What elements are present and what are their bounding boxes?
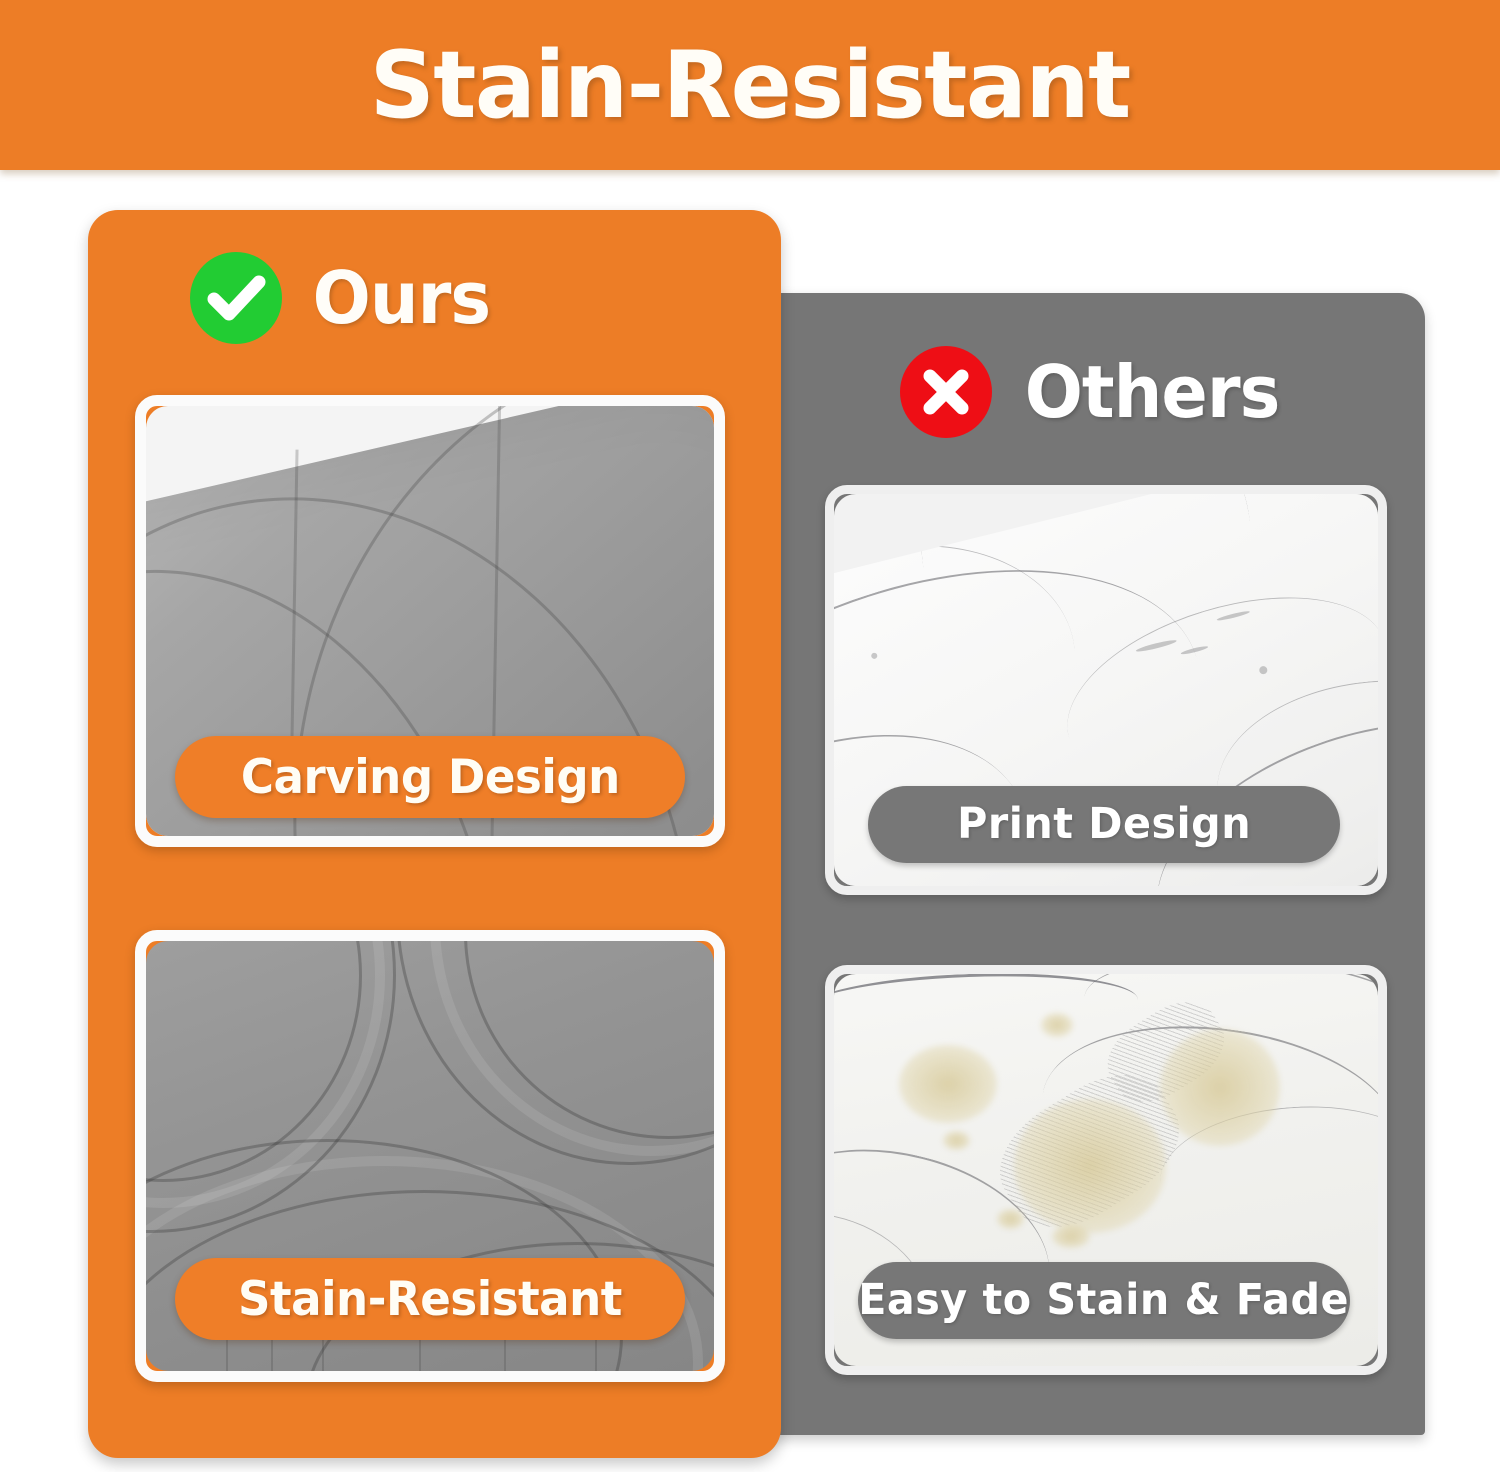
page-title: Stain-Resistant (370, 39, 1130, 132)
ours-badge-label: Ours (313, 262, 490, 334)
others-caption-pill-2: Easy to Stain & Fade (858, 1262, 1350, 1339)
others-caption-pill-1: Print Design (868, 786, 1340, 863)
ours-badge: Ours (190, 252, 495, 344)
others-badge-label: Others (1025, 356, 1280, 428)
x-circle-icon (900, 346, 992, 438)
comparison-infographic: Stain-Resistant Ours Others (0, 0, 1500, 1472)
others-badge: Others (900, 346, 1286, 438)
ours-caption-label-1: Carving Design (241, 754, 620, 801)
header-banner: Stain-Resistant (0, 0, 1500, 170)
others-caption-label-1: Print Design (957, 803, 1251, 846)
others-caption-label-2: Easy to Stain & Fade (859, 1279, 1350, 1322)
ours-caption-pill-1: Carving Design (175, 736, 685, 818)
ours-caption-pill-2: Stain-Resistant (175, 1258, 685, 1340)
ours-caption-label-2: Stain-Resistant (238, 1276, 622, 1323)
check-circle-icon (190, 252, 282, 344)
